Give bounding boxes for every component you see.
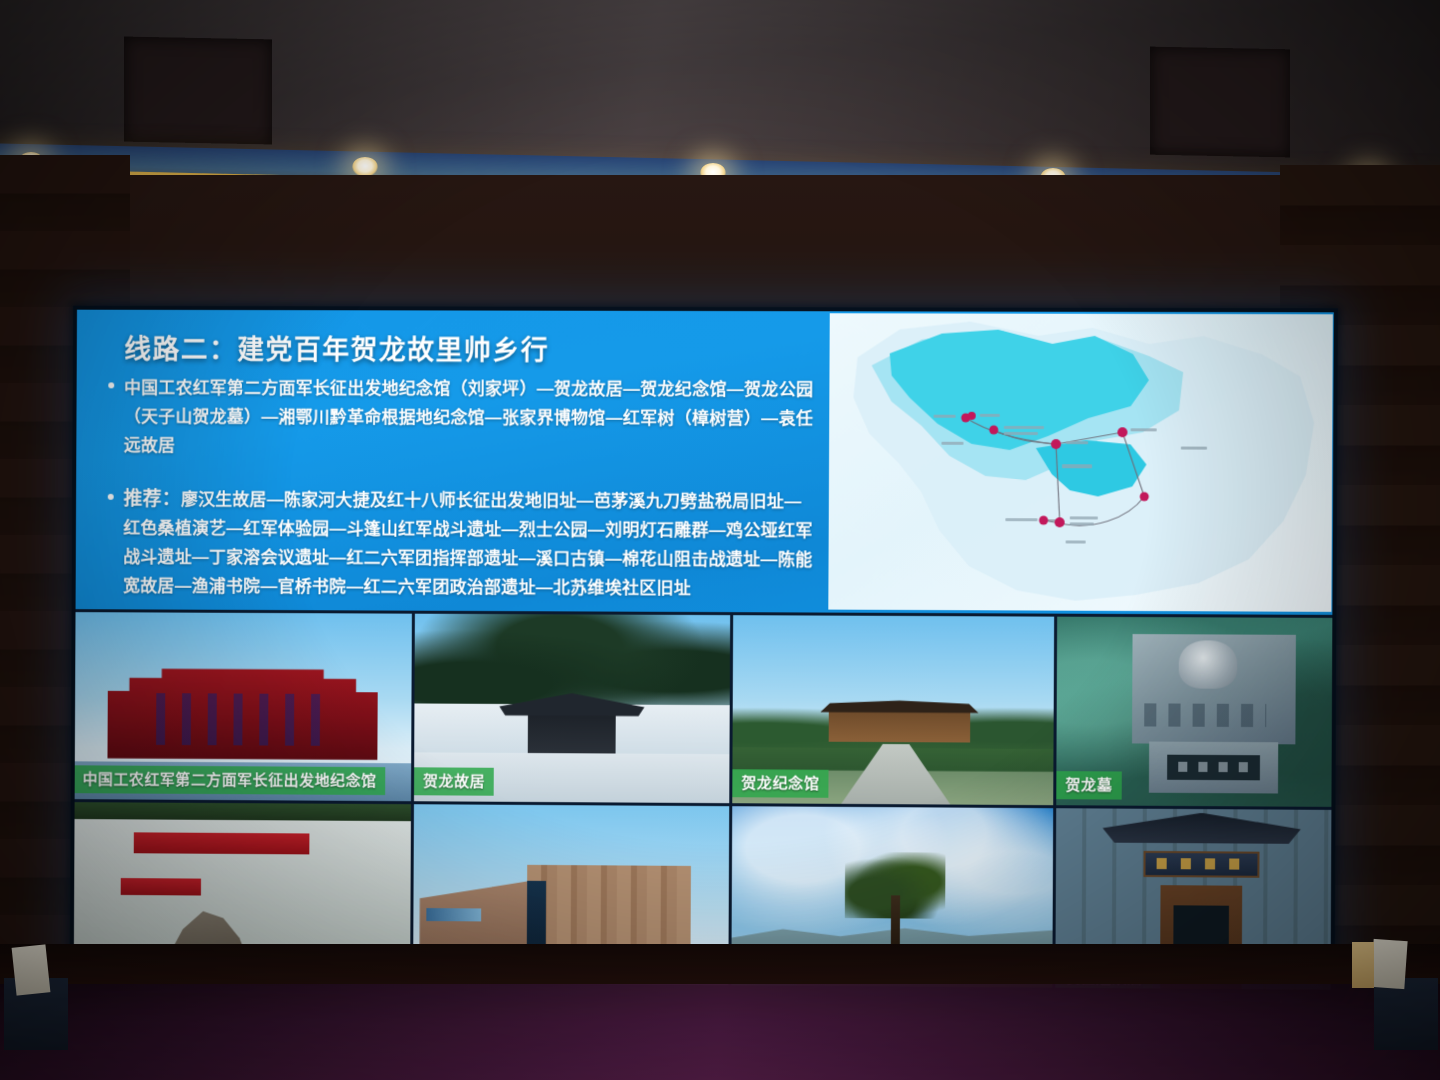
slide-header-panel: 线路二：建党百年贺龙故里帅乡行 中国工农红军第二方面军长征出发地纪念馆（刘家坪）…	[72, 306, 1338, 615]
photo-cell[interactable]: 贺龙纪念馆	[732, 615, 1054, 805]
bullet-route-text: 中国工农红军第二方面军长征出发地纪念馆（刘家坪）—贺龙故居—贺龙纪念馆—贺龙公园…	[124, 373, 818, 462]
photo-caption: 贺龙故居	[414, 767, 494, 795]
old-camphor-tree	[840, 852, 950, 955]
red-banner-secondary	[120, 878, 201, 895]
carved-bust	[1179, 640, 1238, 689]
photo-cell[interactable]: 中国工农红军第二方面军长征出发地纪念馆	[74, 612, 412, 801]
photo-cell[interactable]: 贺龙故居	[414, 614, 730, 803]
recommend-body: 廖汉生故居—陈家河大捷及红十八师长征出发地旧址—芭茅溪九刀劈盐税局旧址—红色桑植…	[123, 490, 813, 598]
cup-right	[1352, 942, 1374, 988]
photo-caption: 中国工农红军第二方面军长征出发地纪念馆	[74, 765, 386, 795]
map-marker	[1055, 517, 1065, 527]
recommend-label: 推荐：	[124, 489, 181, 510]
bullet-item-route: 中国工农红军第二方面军长征出发地纪念馆（刘家坪）—贺龙故居—贺龙纪念馆—贺龙公园…	[108, 373, 817, 462]
gate-opening	[528, 714, 616, 754]
ceiling-panel-right	[1150, 47, 1290, 158]
paper-sheet-right	[1370, 939, 1407, 989]
conference-hall-photo: 线路二：建党百年贺龙故里帅乡行 中国工农红军第二方面军长征出发地纪念馆（刘家坪）…	[0, 0, 1440, 1080]
paper-sheet-left	[12, 944, 51, 995]
stage-floor	[0, 984, 1440, 1080]
gate-name-plaque	[1143, 850, 1260, 877]
map-marker	[1140, 492, 1149, 501]
map-marker	[1051, 439, 1061, 449]
podium-right	[1374, 978, 1438, 1050]
photo-caption: 贺龙墓	[1056, 771, 1121, 799]
route-map-svg	[828, 313, 1333, 612]
bullet-recommend-text: 推荐：廖汉生故居—陈家河大捷及红十八师长征出发地旧址—芭茅溪九刀劈盐税局旧址—红…	[123, 485, 817, 604]
engraved-name	[1144, 704, 1266, 727]
slide-title: 线路二：建党百年贺龙故里帅乡行	[124, 328, 549, 368]
photo-caption: 贺龙纪念馆	[732, 769, 828, 798]
photo-grid: 中国工农红军第二方面军长征出发地纪念馆 贺龙故居 贺龙纪念馆	[70, 609, 1337, 994]
bullet-item-recommend: 推荐：廖汉生故居—陈家河大捷及红十八师长征出发地旧址—芭茅溪九刀劈盐税局旧址—红…	[107, 485, 817, 604]
ceiling-panel-left	[124, 37, 272, 145]
bullet-dot-icon	[107, 485, 123, 600]
photo-cell[interactable]: 贺龙墓	[1056, 617, 1338, 807]
bullet-dot-icon	[108, 373, 124, 460]
map-marker	[968, 412, 976, 420]
led-presentation-screen[interactable]: 线路二：建党百年贺龙故里帅乡行 中国工农红军第二方面军长征出发地纪念馆（刘家坪）…	[70, 306, 1338, 994]
tomb-plaque	[1167, 755, 1260, 780]
map-marker	[1039, 516, 1048, 525]
route-map	[828, 313, 1333, 612]
slide-title-row: 线路二：建党百年贺龙故里帅乡行	[124, 328, 549, 368]
red-banner	[134, 833, 309, 855]
stage-back-rail	[0, 944, 1440, 984]
memorial-hall-building	[829, 710, 970, 743]
map-marker	[989, 425, 998, 434]
ceiling-spotlight	[352, 157, 378, 177]
green-roof	[74, 802, 411, 821]
map-marker	[1117, 427, 1127, 437]
